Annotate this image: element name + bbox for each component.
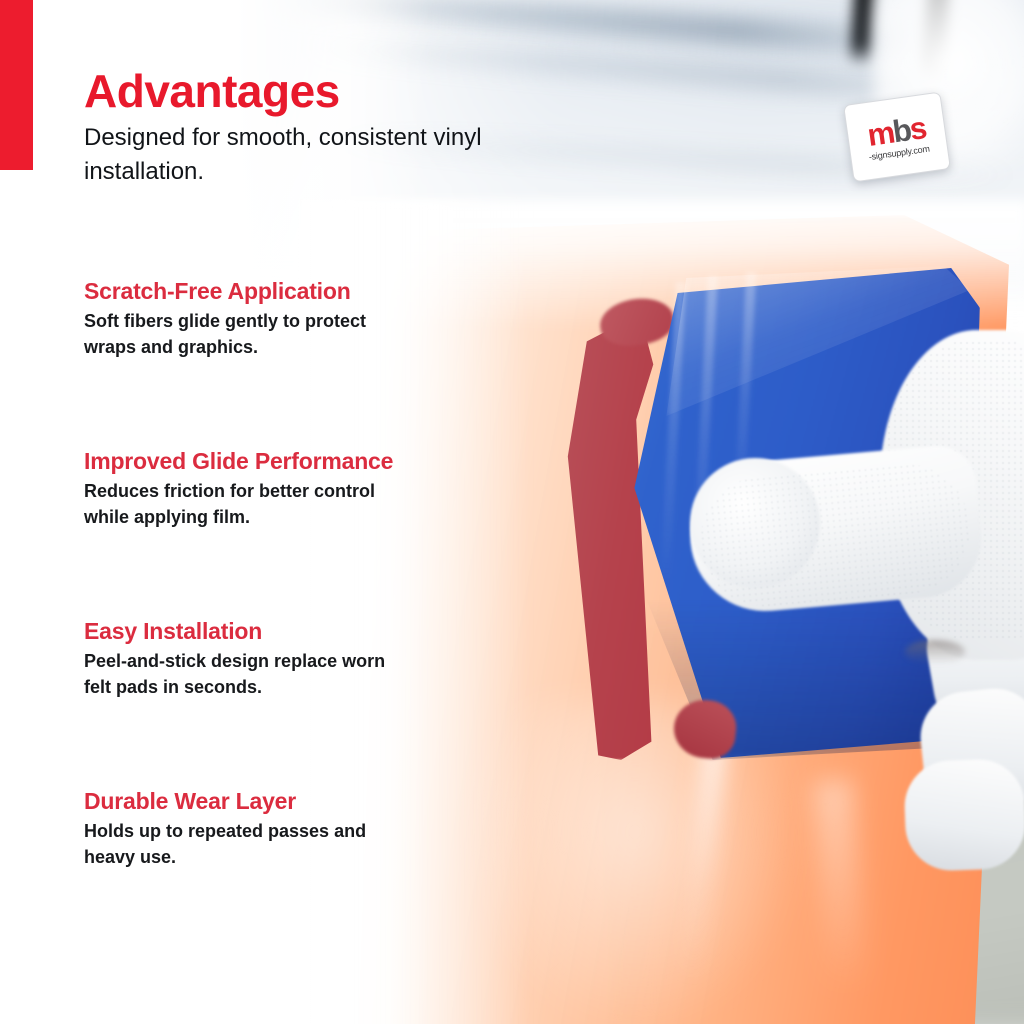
feature-title: Easy Installation bbox=[84, 618, 554, 644]
feature-description: Soft fibers glide gently to protect wrap… bbox=[84, 309, 414, 360]
brand-logo[interactable]: mbs -signsupply.com bbox=[843, 92, 951, 183]
advantages-infographic: Advantages Designed for smooth, consiste… bbox=[0, 0, 1024, 1024]
red-accent-bar bbox=[0, 0, 33, 170]
page-subtitle: Designed for smooth, consistent vinyl in… bbox=[84, 121, 524, 189]
glove-finger bbox=[903, 758, 1024, 872]
feature-item-improved-glide: Improved Glide Performance Reduces frict… bbox=[84, 448, 554, 618]
feature-title: Improved Glide Performance bbox=[84, 448, 554, 474]
feature-description: Peel-and-stick design replace worn felt … bbox=[84, 649, 414, 700]
feature-list: Scratch-Free Application Soft fibers gli… bbox=[84, 278, 554, 958]
feature-item-easy-installation: Easy Installation Peel-and-stick design … bbox=[84, 618, 554, 788]
header: Advantages Designed for smooth, consiste… bbox=[84, 68, 604, 189]
feature-item-scratch-free: Scratch-Free Application Soft fibers gli… bbox=[84, 278, 554, 448]
glove-shadow bbox=[905, 640, 965, 664]
feature-title: Durable Wear Layer bbox=[84, 788, 554, 814]
feature-title: Scratch-Free Application bbox=[84, 278, 554, 304]
feature-description: Reduces friction for better control whil… bbox=[84, 479, 414, 530]
feature-item-durable-wear-layer: Durable Wear Layer Holds up to repeated … bbox=[84, 788, 554, 958]
page-title: Advantages bbox=[84, 68, 604, 115]
feature-description: Holds up to repeated passes and heavy us… bbox=[84, 819, 414, 870]
